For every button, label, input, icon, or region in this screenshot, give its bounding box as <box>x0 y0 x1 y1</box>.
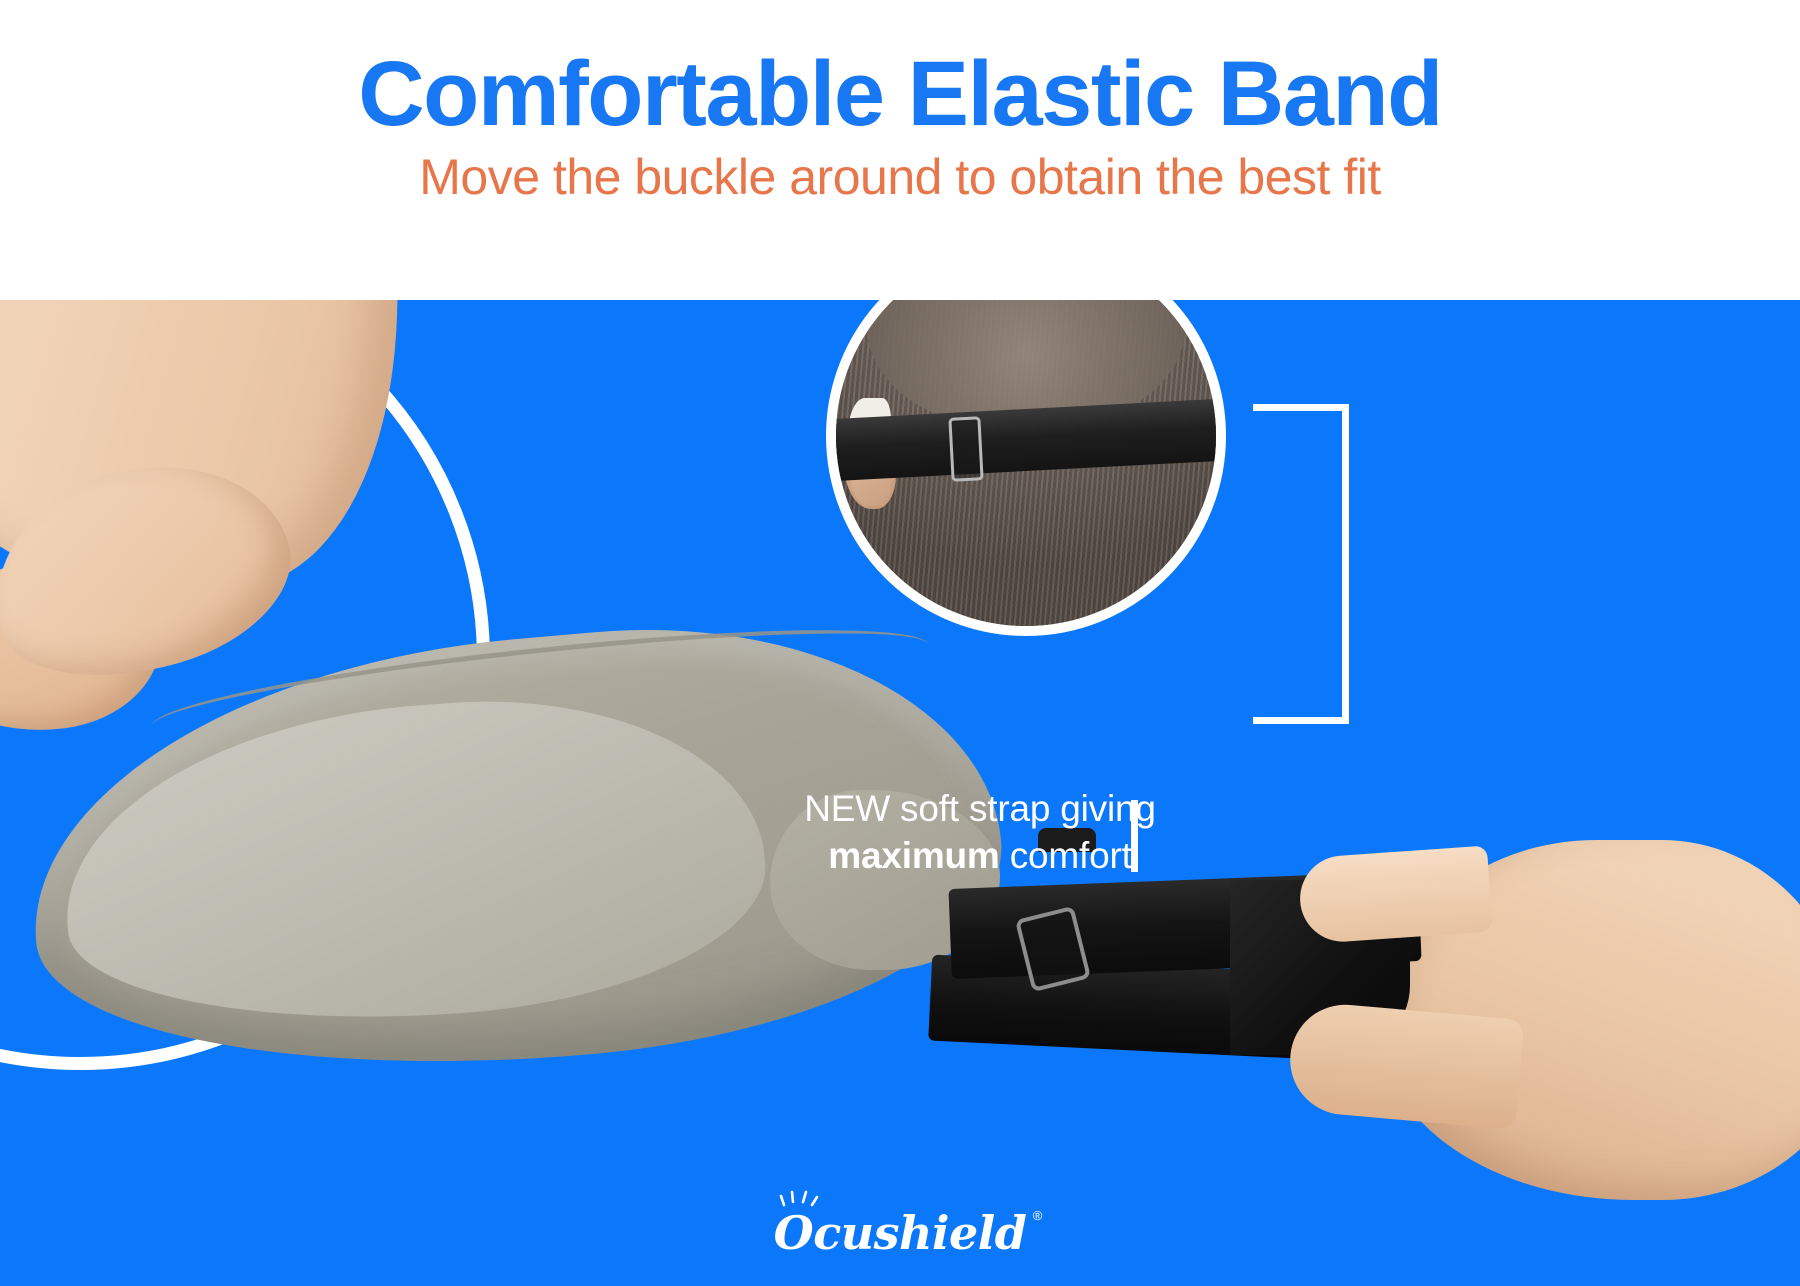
logo-text: Ocushield <box>774 1206 1027 1260</box>
callout-line-2: maximum comfort <box>700 832 1260 879</box>
callout-bracket <box>1253 404 1349 724</box>
logo-wordmark-wrap: Ocushield ® <box>774 1206 1027 1260</box>
brand-logo: Ocushield ® <box>0 1206 1800 1260</box>
callout-emphasis: maximum <box>828 835 999 876</box>
callout-text: NEW soft strap giving maximum comfort <box>700 785 1260 880</box>
right-hand-finger-top <box>1297 845 1493 944</box>
worn-buckle-slider-icon <box>948 416 983 482</box>
product-photo-left <box>0 0 700 700</box>
inset-photo-head-with-strap <box>826 236 1226 636</box>
logo-trademark: ® <box>1033 1208 1043 1223</box>
marketing-banner: NEW soft strap giving maximum comfort Co… <box>0 0 1800 1286</box>
callout-line-2-rest: comfort <box>1000 835 1132 876</box>
logo-rays-icon <box>778 1189 822 1209</box>
hair-crown <box>866 236 1185 428</box>
callout-line-1: NEW soft strap giving <box>700 785 1260 832</box>
